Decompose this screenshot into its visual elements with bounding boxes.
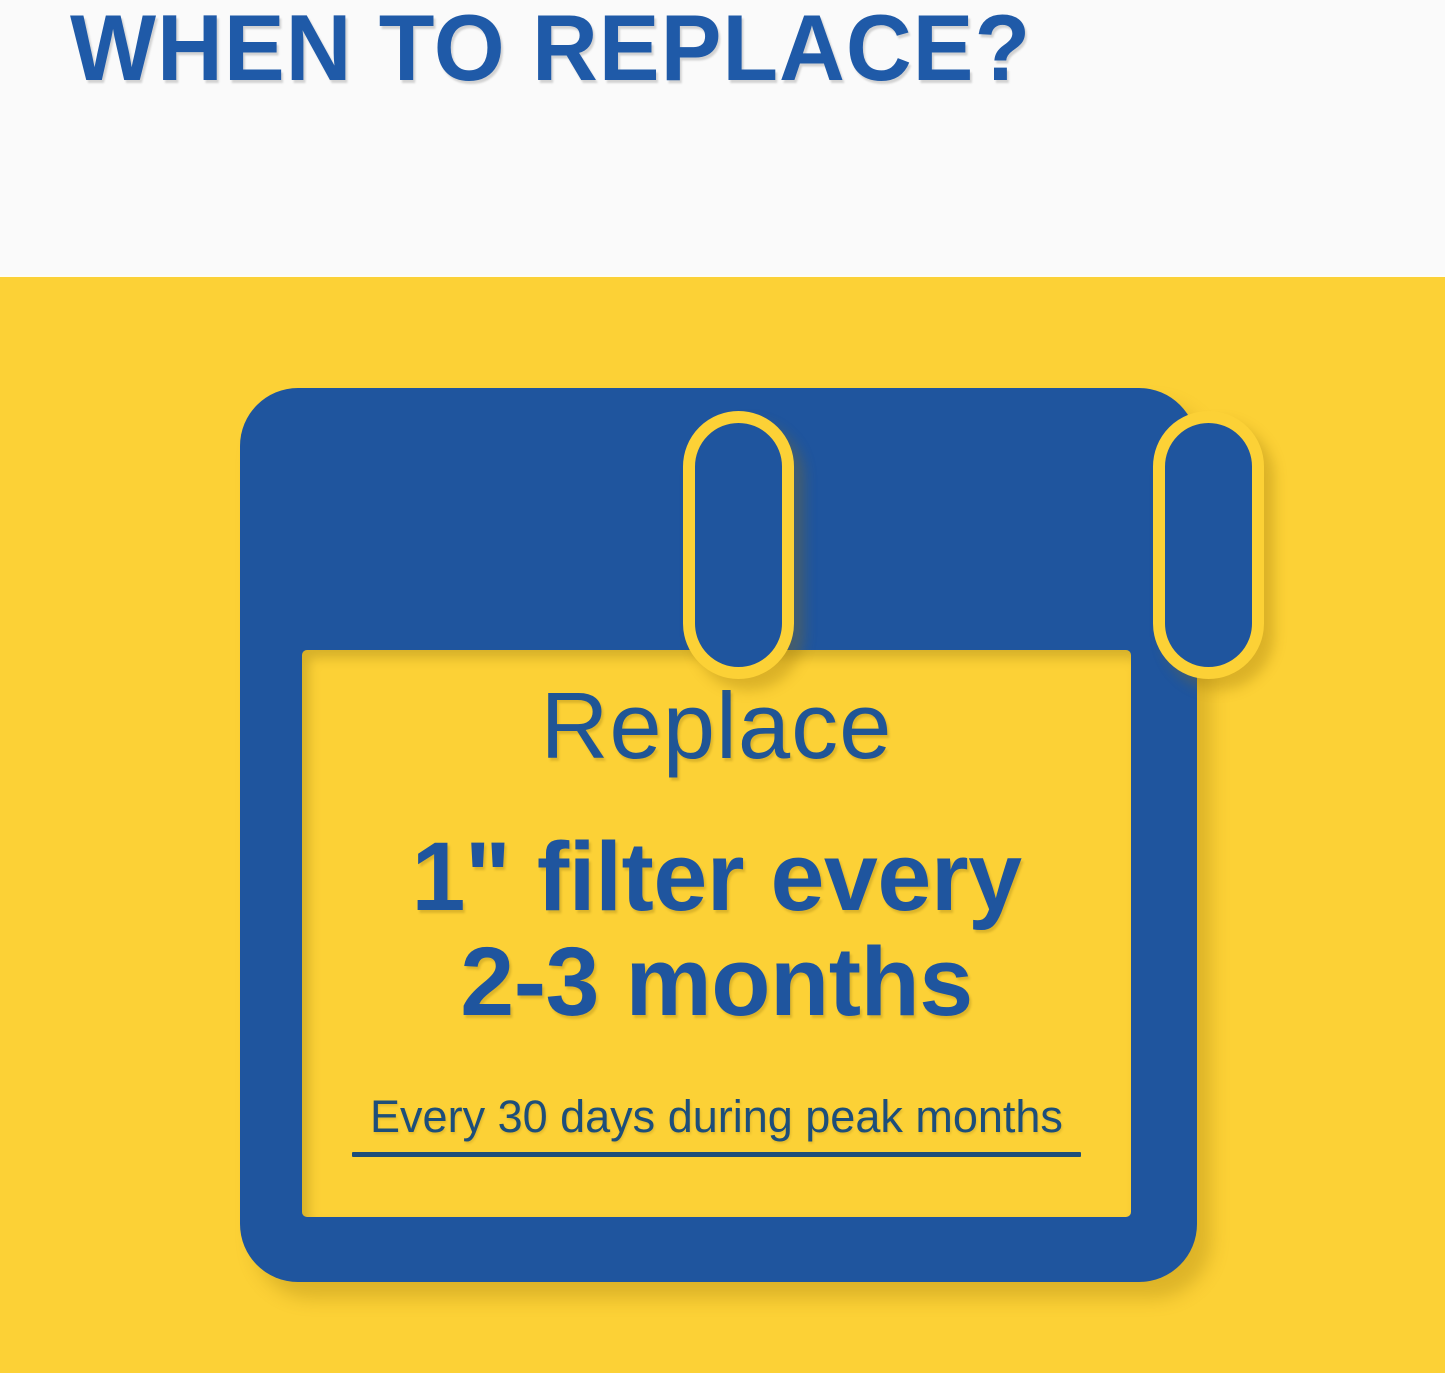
footnote-underline	[352, 1152, 1081, 1157]
yellow-stage: Replace 1" filter every 2-3 months Every…	[0, 277, 1445, 1373]
calendar-ring-right	[1153, 411, 1264, 679]
footnote-text: Every 30 days during peak months	[352, 1090, 1081, 1144]
footnote-block: Every 30 days during peak months	[352, 1090, 1081, 1157]
calendar-ring-left	[683, 411, 794, 679]
poster-root: WHEN TO REPLACE? Replace 1" filter every…	[0, 0, 1445, 1373]
header-band: WHEN TO REPLACE?	[0, 0, 1445, 277]
headline-line-2: 2-3 months	[302, 930, 1131, 1033]
calendar-icon: Replace 1" filter every 2-3 months Every…	[240, 388, 1197, 1282]
page-title: WHEN TO REPLACE?	[70, 0, 1156, 106]
calendar-page: Replace 1" filter every 2-3 months Every…	[302, 650, 1131, 1217]
calendar-page-content: Replace 1" filter every 2-3 months Every…	[302, 650, 1131, 1217]
headline-line-1: 1" filter every	[302, 825, 1131, 928]
replace-label: Replace	[302, 678, 1131, 774]
